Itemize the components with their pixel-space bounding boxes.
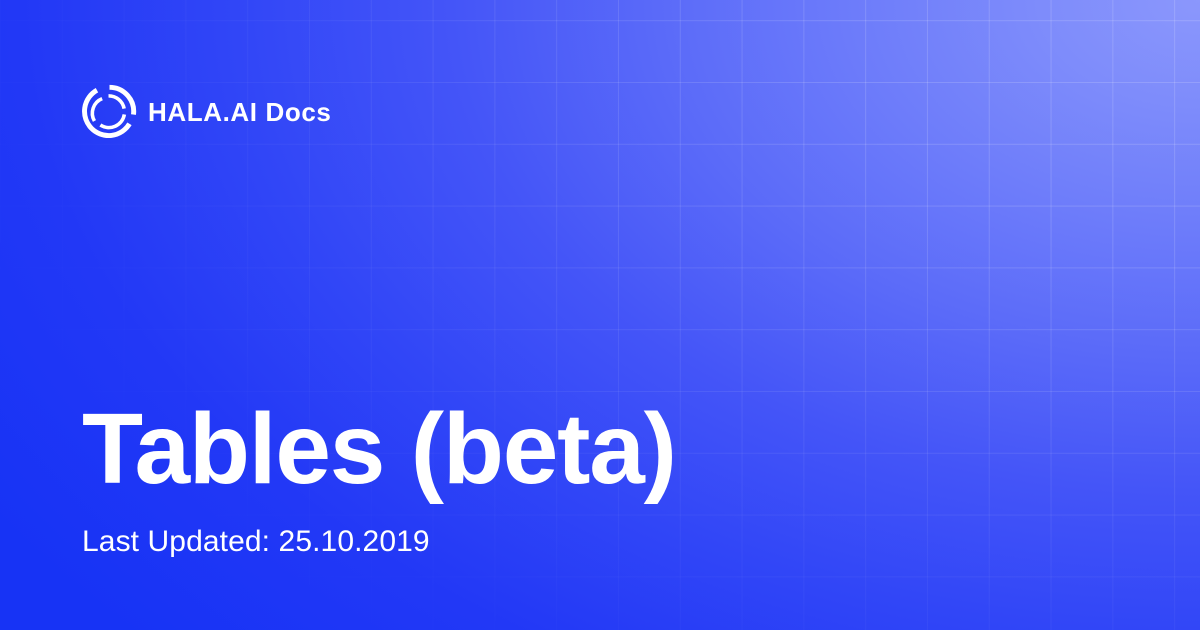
brand-lockup[interactable]: HALA.AI Docs [82,83,331,139]
page-title: Tables (beta) [82,399,1082,499]
brand-name-label: HALA.AI Docs [148,99,331,125]
hala-logo-icon [82,84,137,139]
headline-block: Tables (beta) Last Updated: 25.10.2019 [82,399,1082,558]
last-updated-text: Last Updated: 25.10.2019 [82,525,1082,558]
og-banner-card: HALA.AI Docs Tables (beta) Last Updated:… [0,0,1200,630]
